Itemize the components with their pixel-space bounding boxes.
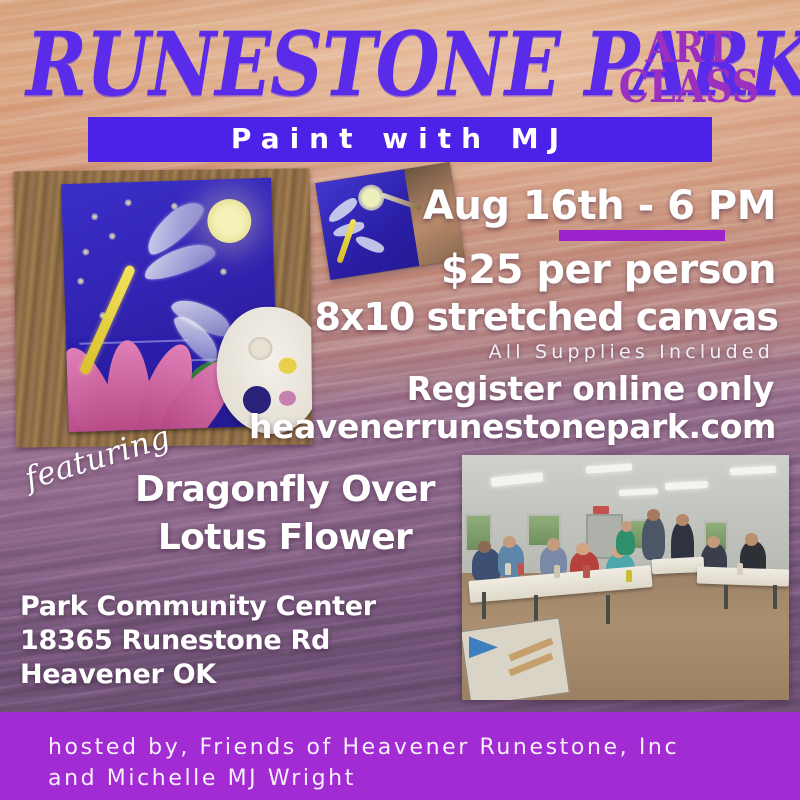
supplies-text: All Supplies Included — [214, 340, 774, 364]
banner-label: Paint with MJ — [231, 122, 569, 155]
host-text: hosted by, Friends of Heavener Runestone… — [48, 732, 768, 794]
venue-street: 18365 Runestone Rd — [20, 624, 440, 658]
website-link[interactable]: heavenerrunestonepark.com — [176, 408, 776, 446]
moon-shape — [207, 198, 252, 243]
host-line-1: hosted by, Friends of Heavener Runestone… — [48, 732, 768, 763]
canvas-size-text: 8x10 stretched canvas — [218, 296, 778, 338]
artwork-title-line1: Dragonfly Over — [120, 466, 450, 514]
class-label: CLASS — [596, 62, 782, 112]
class-room-photo — [462, 455, 789, 700]
artwork-title: Dragonfly Over Lotus Flower — [120, 466, 450, 562]
page-title: RUNESTONE PARK — [26, 17, 658, 112]
flyer-poster: RUNESTONE PARK ART CLASS Paint with MJ — [0, 0, 800, 800]
price-text: $25 per person — [256, 248, 776, 292]
date-time-text: Aug 16th - 6 PM — [256, 184, 776, 228]
host-line-2: and Michelle MJ Wright — [48, 763, 768, 794]
venue-city-state: Heavener OK — [20, 658, 440, 692]
event-date-line: Aug 16th - 6 PM — [256, 184, 776, 228]
venue-block: Park Community Center 18365 Runestone Rd… — [20, 590, 440, 692]
host-footer-band: hosted by, Friends of Heavener Runestone… — [0, 712, 800, 800]
paint-with-mj-banner: Paint with MJ — [88, 117, 712, 162]
register-text: Register online only — [214, 370, 774, 408]
lotus-flower-shape — [61, 329, 191, 432]
exit-sign — [593, 506, 609, 513]
table-shape — [697, 566, 789, 586]
purple-divider-rule — [559, 230, 725, 241]
venue-name: Park Community Center — [20, 590, 440, 624]
artwork-title-line2: Lotus Flower — [120, 514, 450, 562]
